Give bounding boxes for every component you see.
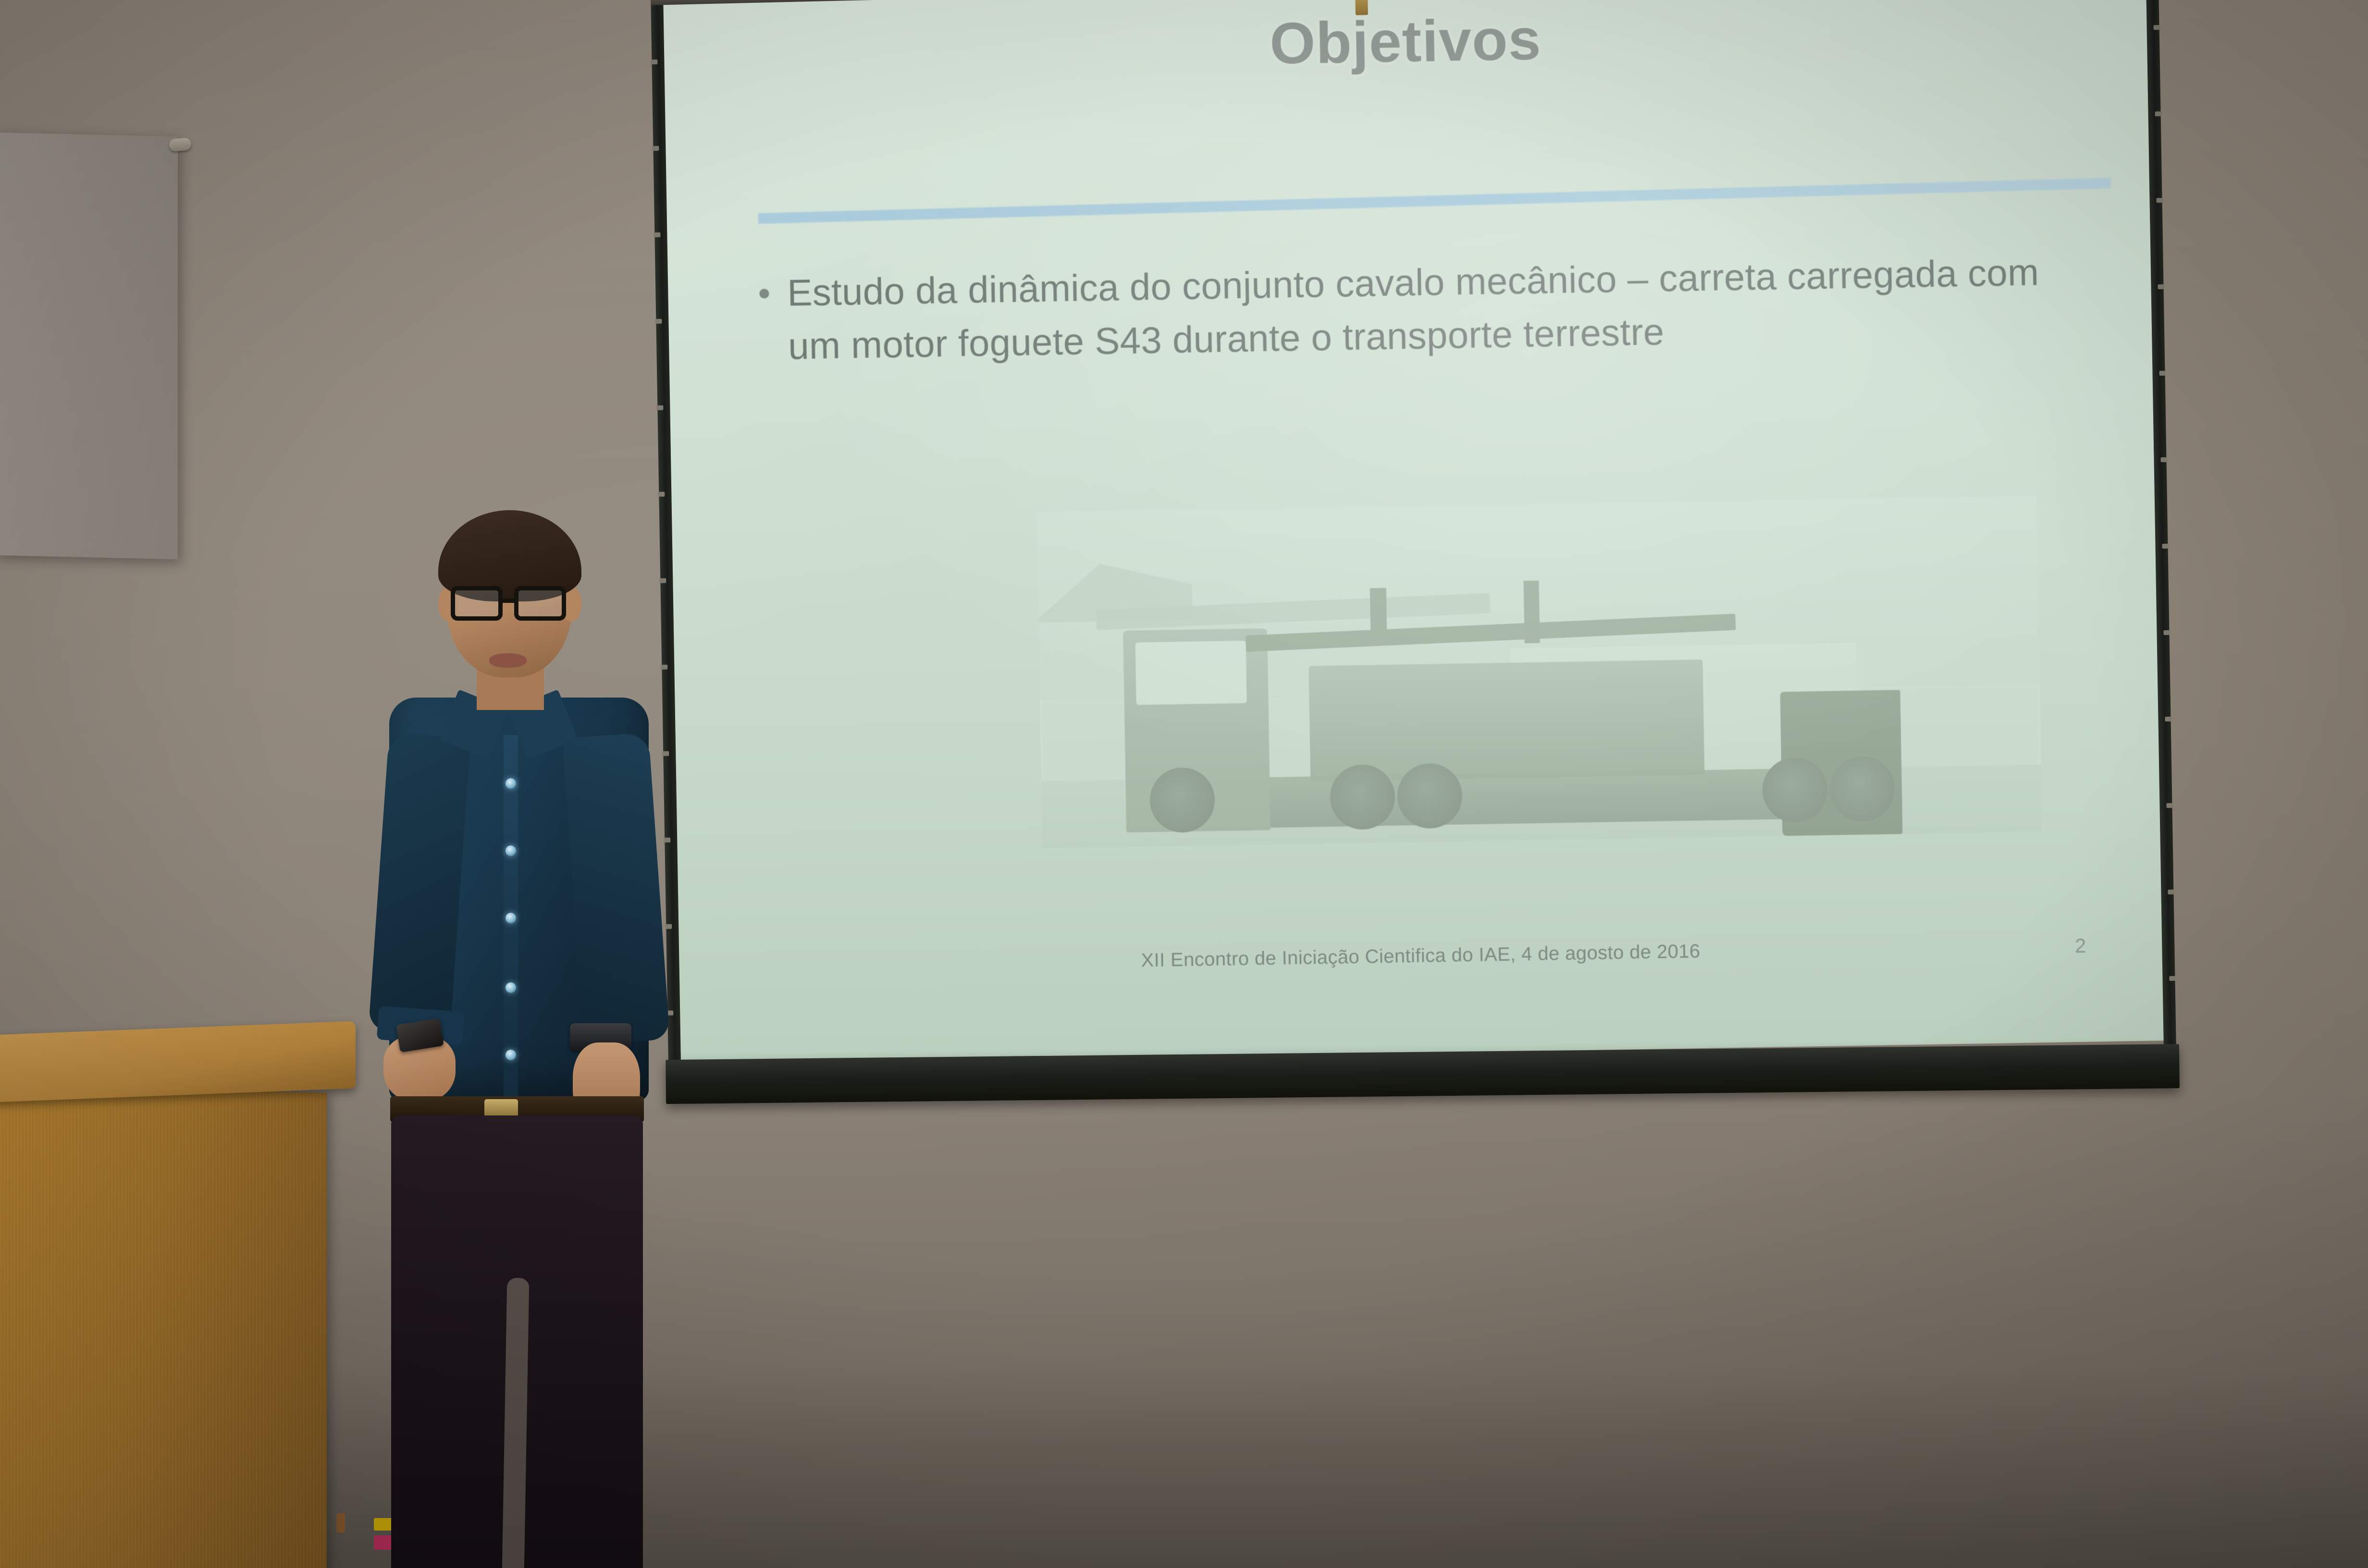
wall-mounted-panel: [0, 133, 178, 560]
slide-bullet-text: Estudo da dinâmica do conjunto cavalo me…: [787, 245, 2080, 373]
bullet-point-icon: [759, 289, 769, 298]
wooden-podium: [0, 1028, 365, 1568]
shirt-button-icon: [506, 913, 516, 923]
shirt-button-icon: [506, 845, 516, 856]
eyeglasses-icon: [451, 586, 503, 621]
shirt-button-icon: [506, 778, 516, 789]
slide-title: Objetivos: [664, 0, 2147, 87]
slide-truck-photo: [1037, 495, 2042, 848]
eyeglasses-bridge-icon: [501, 599, 517, 603]
screen-projection-surface: Objetivos Estudo da dinâmica do conjunto…: [663, 0, 2164, 1065]
shirt-button-icon: [506, 1050, 516, 1060]
podium-wood-grain: [0, 1086, 327, 1568]
projector-screen: Objetivos Estudo da dinâmica do conjunto…: [651, 0, 2168, 1112]
slide-footer-text: XII Encontro de Iniciação Cientifica do …: [679, 933, 2162, 979]
conference-room-scene: Objetivos Estudo da dinâmica do conjunto…: [0, 0, 2368, 1568]
podium-top-surface: [0, 1021, 356, 1102]
presenter-mouth: [489, 653, 527, 668]
photo-projector-haze: [1037, 495, 2042, 848]
presentation-slide: Objetivos Estudo da dinâmica do conjunto…: [663, 0, 2164, 1065]
eyeglasses-icon: [514, 586, 566, 621]
slide-bullet-item: Estudo da dinâmica do conjunto cavalo me…: [759, 245, 2080, 373]
podium-body: [0, 1086, 327, 1568]
slide-page-number: 2: [2075, 934, 2086, 957]
slide-title-divider: [758, 178, 2111, 224]
shirt-button-icon: [506, 982, 516, 993]
panel-mounting-peg-icon: [169, 137, 192, 152]
